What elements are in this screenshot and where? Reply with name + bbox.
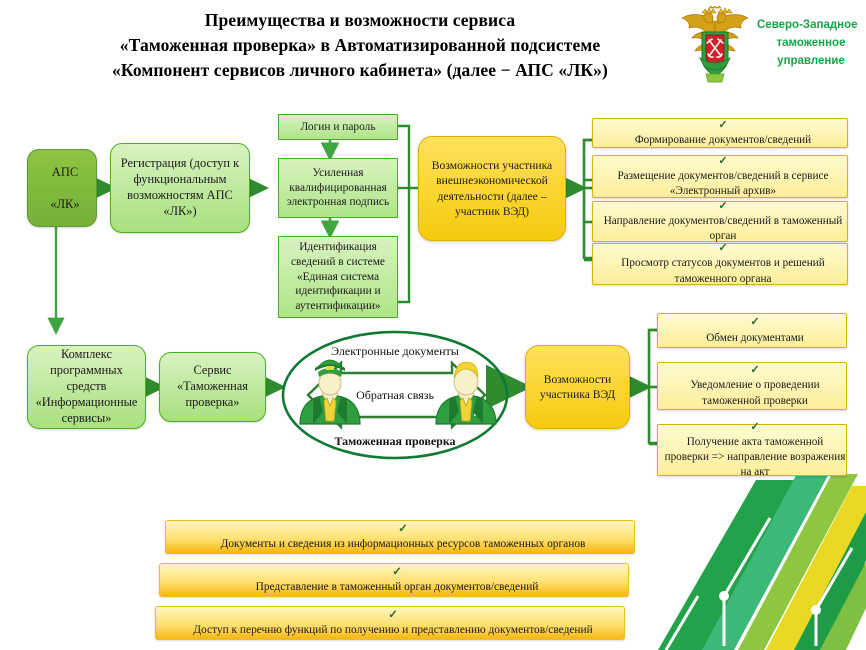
list-item-right-2-text: ✓Уведомление о проведении таможенной про…: [658, 363, 846, 408]
node-customs-check-service-label: Сервис «Таможенная проверка»: [160, 363, 265, 411]
node-qualified-signature-label: Усиленная квалифицированная электронная …: [279, 166, 397, 210]
list-item-top-2-text: ✓Размещение документов/сведений в сервис…: [593, 154, 847, 199]
title-line-1: Преимущества и возможности сервиса: [40, 8, 680, 33]
list-item-right-2[interactable]: ✓Уведомление о проведении таможенной про…: [657, 362, 847, 410]
list-item-top-1-text: ✓Формирование документов/сведений: [593, 118, 847, 148]
list-item-right-1-text: ✓Обмен документами: [658, 315, 846, 345]
check-icon: ✓: [661, 420, 849, 435]
coat-of-arms-emblem: [676, 6, 754, 90]
check-icon: ✓: [169, 522, 637, 537]
node-software-complex-label: Комплекс программных средств «Информацио…: [28, 347, 145, 426]
node-registration-label: Регистрация (доступ к функциональным воз…: [111, 156, 249, 220]
ellipse-middle-label: Обратная связь: [345, 388, 445, 403]
check-icon: ✓: [163, 565, 631, 580]
node-identification-label: Идентификация сведений в системе «Единая…: [279, 240, 397, 314]
aps-lk-line1: АПС: [31, 164, 99, 180]
node-login-password[interactable]: Логин и пароль: [278, 114, 398, 140]
node-ved-possibilities-label: Возможности участника ВЭД: [526, 372, 629, 403]
node-customs-check-service[interactable]: Сервис «Таможенная проверка»: [159, 352, 266, 422]
list-item-top-1[interactable]: ✓Формирование документов/сведений: [592, 118, 848, 148]
bottom-bar-3-text: ✓Доступ к перечню функций по получению и…: [156, 608, 624, 638]
list-item-right-3-text: ✓Получение акта таможенной проверки => н…: [658, 420, 846, 480]
ellipse-bottom-label: Таможенная проверка: [305, 434, 485, 449]
ellipse-top-label: Электронные документы: [300, 344, 490, 359]
list-item-right-3[interactable]: ✓Получение акта таможенной проверки => н…: [657, 424, 847, 476]
node-software-complex[interactable]: Комплекс программных средств «Информацио…: [27, 345, 146, 429]
check-icon: ✓: [661, 363, 849, 378]
list-item-top-4-text: ✓Просмотр статусов документов и решений …: [593, 241, 847, 286]
check-icon: ✓: [596, 118, 850, 133]
list-item-top-3-text: ✓Направление документов/сведений в тамож…: [593, 199, 847, 244]
check-icon: ✓: [596, 154, 850, 169]
node-foreign-trade-possibilities-label: Возможности участника внешнеэкономическо…: [419, 158, 565, 219]
node-registration[interactable]: Регистрация (доступ к функциональным воз…: [110, 143, 250, 233]
check-icon: ✓: [596, 241, 850, 256]
node-aps-lk-label: АПС «ЛК»: [28, 164, 96, 213]
node-qualified-signature[interactable]: Усиленная квалифицированная электронная …: [278, 158, 398, 218]
bottom-bar-1[interactable]: ✓Документы и сведения из информационных …: [165, 520, 635, 554]
check-icon: ✓: [661, 315, 849, 330]
businessman-figure: [436, 362, 496, 424]
slide-canvas: Преимущества и возможности сервиса «Тамо…: [0, 0, 866, 650]
bottom-bar-2[interactable]: ✓Представление в таможенный орган докуме…: [159, 563, 629, 597]
organization-name: Северо-Западное таможенное управление: [757, 17, 865, 70]
bottom-bar-2-text: ✓Представление в таможенный орган докуме…: [160, 565, 628, 595]
node-aps-lk[interactable]: АПС «ЛК»: [27, 149, 97, 227]
list-item-top-3[interactable]: ✓Направление документов/сведений в тамож…: [592, 201, 848, 242]
bottom-bar-1-text: ✓Документы и сведения из информационных …: [166, 522, 634, 552]
list-item-right-1[interactable]: ✓Обмен документами: [657, 313, 847, 348]
title-line-3: «Компонент сервисов личного кабинета» (д…: [40, 58, 680, 83]
org-line-2: таможенное: [757, 35, 865, 53]
check-icon: ✓: [159, 608, 627, 623]
org-line-3: управление: [757, 53, 865, 71]
page-title: Преимущества и возможности сервиса «Тамо…: [40, 8, 680, 83]
node-identification[interactable]: Идентификация сведений в системе «Единая…: [278, 236, 398, 318]
bottom-bar-3[interactable]: ✓Доступ к перечню функций по получению и…: [155, 606, 625, 640]
check-icon: ✓: [596, 199, 850, 214]
org-line-1: Северо-Западное: [757, 17, 865, 35]
node-foreign-trade-possibilities[interactable]: Возможности участника внешнеэкономическо…: [418, 136, 566, 241]
node-ved-possibilities[interactable]: Возможности участника ВЭД: [525, 345, 630, 429]
list-item-top-4[interactable]: ✓Просмотр статусов документов и решений …: [592, 243, 848, 285]
node-login-password-label: Логин и пароль: [279, 120, 397, 135]
list-item-top-2[interactable]: ✓Размещение документов/сведений в сервис…: [592, 155, 848, 198]
title-line-2: «Таможенная проверка» в Автоматизированн…: [40, 33, 680, 58]
aps-lk-line2: «ЛК»: [31, 196, 99, 212]
